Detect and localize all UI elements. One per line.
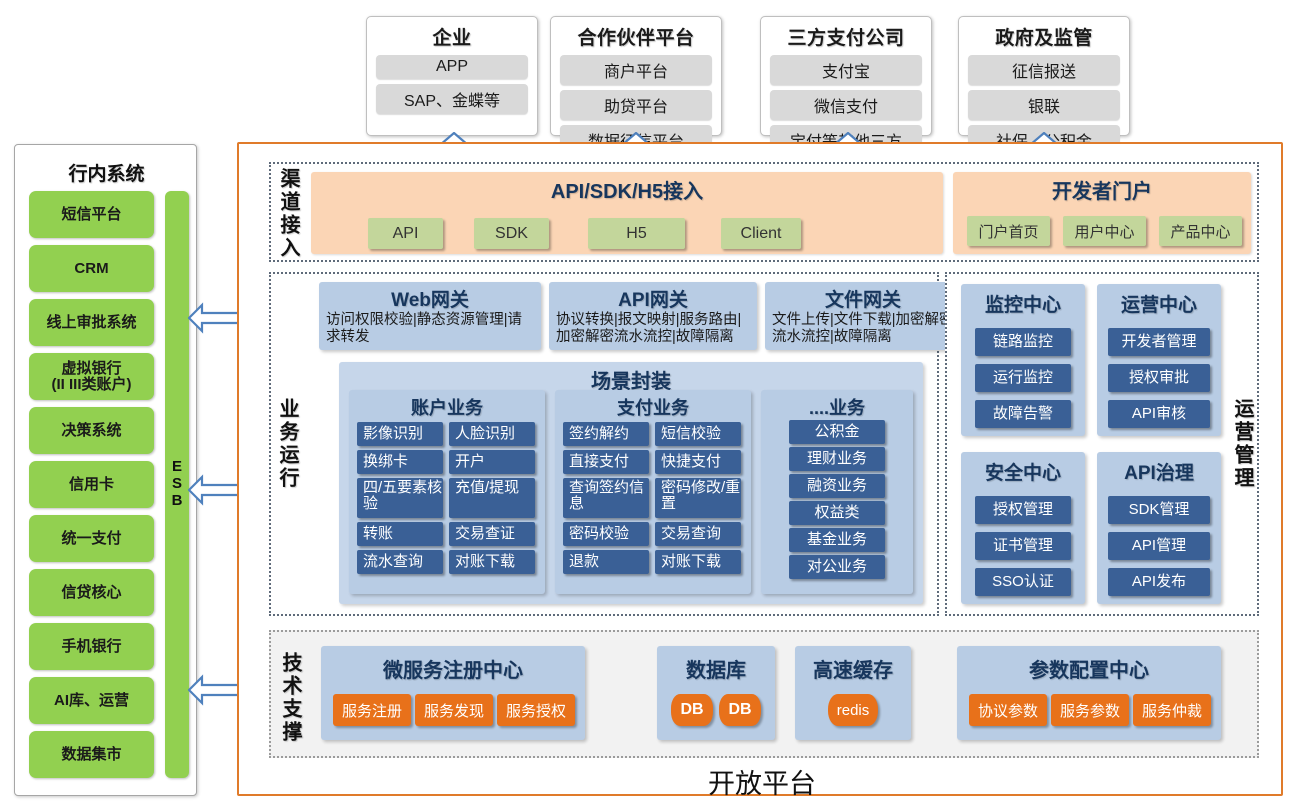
external-card-item[interactable]: 支付宝 — [770, 55, 922, 85]
access-item-client[interactable]: Client — [721, 218, 801, 249]
bank-system-item[interactable]: 虚拟银行 (II III类账户) — [29, 353, 154, 400]
ops-item[interactable]: 授权审批 — [1108, 364, 1210, 392]
tech-group-title: 微服务注册中心 — [321, 646, 585, 683]
developer-portal-card: 开发者门户 门户首页 用户中心 产品中心 — [953, 172, 1251, 254]
tech-item[interactable]: 服务参数 — [1051, 694, 1129, 726]
scene-item[interactable]: 交易查询 — [655, 522, 741, 546]
scene-item[interactable]: 开户 — [449, 450, 535, 474]
api-sdk-h5-access-card: API/SDK/H5接入 API SDK H5 Client — [311, 172, 943, 254]
external-card-title: 企业 — [376, 23, 528, 50]
ops-item[interactable]: SDK管理 — [1108, 496, 1210, 524]
access-item-api[interactable]: API — [368, 218, 443, 249]
scene-column-other: ....业务 公积金 理财业务 融资业务 权益类 基金业务 对公业务 — [761, 390, 913, 594]
gateway-desc: 协议转换|报文映射|服务路由|加密解密流水流控|故障隔离 — [549, 312, 757, 346]
access-card-title: API/SDK/H5接入 — [311, 172, 943, 204]
tech-item[interactable]: 服务授权 — [497, 694, 575, 726]
external-card-item[interactable]: 微信支付 — [770, 90, 922, 120]
business-running-vertical-label: 业务运行 — [274, 384, 302, 504]
bank-system-item[interactable]: AI库、运营 — [29, 677, 154, 724]
bank-system-item[interactable]: 短信平台 — [29, 191, 154, 238]
open-platform-container: 渠道接入 API/SDK/H5接入 API SDK H5 Client 开发者门… — [237, 142, 1283, 796]
bank-system-item[interactable]: 数据集市 — [29, 731, 154, 778]
tech-item[interactable]: 协议参数 — [969, 694, 1047, 726]
tech-group-microservice-registry: 微服务注册中心 服务注册 服务发现 服务授权 — [321, 646, 585, 740]
ops-item[interactable]: 故障告警 — [975, 400, 1071, 428]
portal-item-home[interactable]: 门户首页 — [967, 216, 1050, 246]
portal-item-product-center[interactable]: 产品中心 — [1159, 216, 1242, 246]
ops-panel-security-center: 安全中心 授权管理 证书管理 SSO认证 — [961, 452, 1085, 604]
tech-group-cache: 高速缓存 redis — [795, 646, 911, 740]
ops-item[interactable]: API管理 — [1108, 532, 1210, 560]
bank-system-item[interactable]: CRM — [29, 245, 154, 292]
ops-panel-monitoring: 监控中心 链路监控 运行监控 故障告警 — [961, 284, 1085, 436]
ops-item[interactable]: 证书管理 — [975, 532, 1071, 560]
bank-system-item[interactable]: 信贷核心 — [29, 569, 154, 616]
scene-item[interactable]: 签约解约 — [563, 422, 649, 446]
external-card-item[interactable]: 银联 — [968, 90, 1120, 120]
scene-item[interactable]: 融资业务 — [789, 474, 885, 498]
scene-item[interactable]: 查询签约信息 — [563, 478, 649, 518]
scene-item[interactable]: 退款 — [563, 550, 649, 574]
bank-system-item[interactable]: 统一支付 — [29, 515, 154, 562]
external-card-item[interactable]: SAP、金蝶等 — [376, 84, 528, 114]
tech-support-vertical-label: 技术支撑 — [277, 642, 305, 754]
gateway-title: Web网关 — [319, 285, 541, 312]
scene-item[interactable]: 四/五要素核验 — [357, 478, 443, 518]
external-card-item[interactable]: 商户平台 — [560, 55, 712, 85]
ops-item[interactable]: 授权管理 — [975, 496, 1071, 524]
external-card-item[interactable]: 助贷平台 — [560, 90, 712, 120]
ops-item[interactable]: API发布 — [1108, 568, 1210, 596]
portal-item-user-center[interactable]: 用户中心 — [1063, 216, 1146, 246]
ops-panel-title: 运营中心 — [1097, 284, 1221, 317]
tech-group-config-center: 参数配置中心 协议参数 服务参数 服务仲裁 — [957, 646, 1221, 740]
scene-item[interactable]: 人脸识别 — [449, 422, 535, 446]
esb-bus: E S B — [165, 191, 189, 778]
access-item-h5[interactable]: H5 — [588, 218, 685, 249]
operations-management-section: 运营管理 监控中心 链路监控 运行监控 故障告警 运营中心 开发者管理 授权审批… — [945, 272, 1259, 616]
scene-item[interactable]: 快捷支付 — [655, 450, 741, 474]
scene-item[interactable]: 基金业务 — [789, 528, 885, 552]
scene-item[interactable]: 直接支付 — [563, 450, 649, 474]
scene-item[interactable]: 对账下载 — [449, 550, 535, 574]
gateway-desc: 文件上传|文件下载|加密解密流水流控|故障隔离 — [765, 312, 961, 346]
ops-panel-title: 安全中心 — [961, 452, 1085, 485]
scene-column-title: 支付业务 — [555, 390, 751, 420]
scene-column-account: 账户业务 影像识别 换绑卡 四/五要素核验 转账 流水查询 人脸识别 开户 充值… — [349, 390, 545, 594]
channel-access-vertical-label: 渠道接入 — [275, 168, 303, 260]
db-icon: DB — [671, 694, 713, 726]
external-card-government-regulator[interactable]: 政府及监管 征信报送 银联 社保、公积金 — [958, 16, 1130, 136]
external-card-enterprise[interactable]: 企业 APP SAP、金蝶等 — [366, 16, 538, 136]
scene-item[interactable]: 密码修改/重置 — [655, 478, 741, 518]
external-card-third-party-payment[interactable]: 三方支付公司 支付宝 微信支付 宝付等其他三方 — [760, 16, 932, 136]
redis-icon: redis — [828, 694, 878, 726]
scene-item[interactable]: 公积金 — [789, 420, 885, 444]
access-item-sdk[interactable]: SDK — [474, 218, 549, 249]
ops-panel-title: 监控中心 — [961, 284, 1085, 317]
scene-item[interactable]: 短信校验 — [655, 422, 741, 446]
scene-column-title: ....业务 — [761, 390, 913, 420]
operations-vertical-label: 运营管理 — [1229, 384, 1257, 504]
bank-internal-systems-panel: 行内系统 短信平台 CRM 线上审批系统 虚拟银行 (II III类账户) 决策… — [14, 144, 197, 796]
tech-group-title: 参数配置中心 — [957, 646, 1221, 683]
scene-item[interactable]: 换绑卡 — [357, 450, 443, 474]
scene-item[interactable]: 密码校验 — [563, 522, 649, 546]
tech-group-title: 高速缓存 — [795, 646, 911, 683]
scene-encapsulation-card: 场景封装 账户业务 影像识别 换绑卡 四/五要素核验 转账 流水查询 人脸识别 … — [339, 362, 923, 604]
ops-item[interactable]: 运行监控 — [975, 364, 1071, 392]
tech-group-title: 数据库 — [657, 646, 775, 683]
gateway-title: API网关 — [549, 285, 757, 312]
gateway-card-web[interactable]: Web网关 访问权限校验|静态资源管理|请求转发 — [319, 282, 541, 350]
scene-item[interactable]: 理财业务 — [789, 447, 885, 471]
bank-system-item[interactable]: 决策系统 — [29, 407, 154, 454]
ops-item[interactable]: 开发者管理 — [1108, 328, 1210, 356]
tech-item[interactable]: 服务注册 — [333, 694, 411, 726]
external-card-title: 三方支付公司 — [770, 23, 922, 50]
esb-label: E S B — [165, 459, 189, 509]
external-card-partner-platform[interactable]: 合作伙伴平台 商户平台 助贷平台 数据征信平台 — [550, 16, 722, 136]
business-running-section: 业务运行 Web网关 访问权限校验|静态资源管理|请求转发 API网关 协议转换… — [269, 272, 939, 616]
db-icon: DB — [719, 694, 761, 726]
external-card-item[interactable]: 征信报送 — [968, 55, 1120, 85]
bank-system-item[interactable]: 信用卡 — [29, 461, 154, 508]
tech-item[interactable]: 服务仲裁 — [1133, 694, 1211, 726]
channel-access-section: 渠道接入 API/SDK/H5接入 API SDK H5 Client 开发者门… — [269, 162, 1259, 262]
ops-panel-api-governance: API治理 SDK管理 API管理 API发布 — [1097, 452, 1221, 604]
scene-item[interactable]: 流水查询 — [357, 550, 443, 574]
portal-card-title: 开发者门户 — [953, 172, 1251, 204]
ops-panel-title: API治理 — [1097, 452, 1221, 485]
gateway-title: 文件网关 — [765, 285, 961, 312]
scene-item[interactable]: 充值/提现 — [449, 478, 535, 518]
bank-system-item[interactable]: 手机银行 — [29, 623, 154, 670]
ops-item[interactable]: API审核 — [1108, 400, 1210, 428]
ops-panel-operation-center: 运营中心 开发者管理 授权审批 API审核 — [1097, 284, 1221, 436]
gateway-desc: 访问权限校验|静态资源管理|请求转发 — [319, 312, 541, 346]
gateway-card-file[interactable]: 文件网关 文件上传|文件下载|加密解密流水流控|故障隔离 — [765, 282, 961, 350]
scene-item[interactable]: 权益类 — [789, 501, 885, 525]
scene-column-payment: 支付业务 签约解约 直接支付 查询签约信息 密码校验 退款 短信校验 快捷支付 … — [555, 390, 751, 594]
tech-item[interactable]: 服务发现 — [415, 694, 493, 726]
gateway-card-api[interactable]: API网关 协议转换|报文映射|服务路由|加密解密流水流控|故障隔离 — [549, 282, 757, 350]
external-card-title: 政府及监管 — [968, 23, 1120, 50]
bank-system-item[interactable]: 线上审批系统 — [29, 299, 154, 346]
ops-item[interactable]: SSO认证 — [975, 568, 1071, 596]
scene-item[interactable]: 转账 — [357, 522, 443, 546]
platform-title: 开放平台 — [239, 762, 1285, 801]
scene-item[interactable]: 交易查证 — [449, 522, 535, 546]
external-card-title: 合作伙伴平台 — [560, 23, 712, 50]
tech-group-database: 数据库 DB DB — [657, 646, 775, 740]
bank-panel-title: 行内系统 — [15, 159, 198, 186]
scene-column-title: 账户业务 — [349, 390, 545, 420]
scene-item[interactable]: 影像识别 — [357, 422, 443, 446]
ops-item[interactable]: 链路监控 — [975, 328, 1071, 356]
scene-item[interactable]: 对公业务 — [789, 555, 885, 579]
tech-support-section: 技术支撑 微服务注册中心 服务注册 服务发现 服务授权 数据库 DB DB 高速… — [269, 630, 1259, 758]
external-card-item[interactable]: APP — [376, 55, 528, 79]
scene-item[interactable]: 对账下载 — [655, 550, 741, 574]
